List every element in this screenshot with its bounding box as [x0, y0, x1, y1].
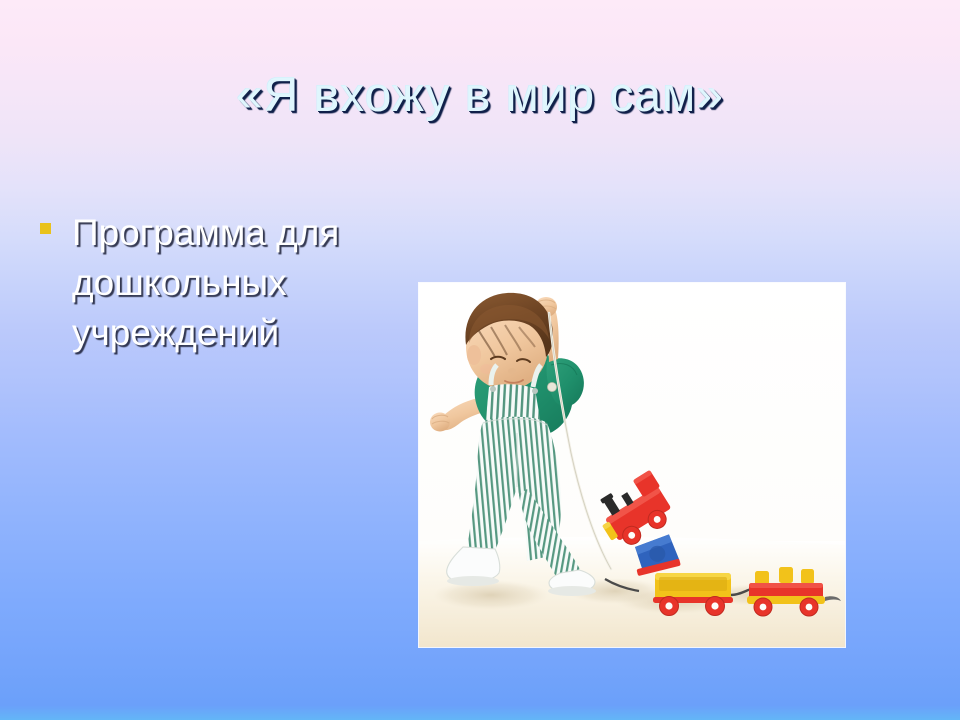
- presentation-slide: «Я вхожу в мир сам» Программа для дошкол…: [0, 0, 960, 720]
- square-bullet-icon: [40, 223, 51, 234]
- slide-photo: [419, 283, 845, 647]
- page-title: «Я вхожу в мир сам»: [236, 68, 724, 123]
- list-item-label: Программа для дошкольных учреждений: [72, 208, 430, 358]
- body-content: Программа для дошкольных учреждений: [40, 208, 430, 358]
- list-item: Программа для дошкольных учреждений: [40, 208, 430, 358]
- toddler-with-toy-train-illustration: [419, 283, 845, 647]
- title-block: «Я вхожу в мир сам»: [0, 68, 960, 123]
